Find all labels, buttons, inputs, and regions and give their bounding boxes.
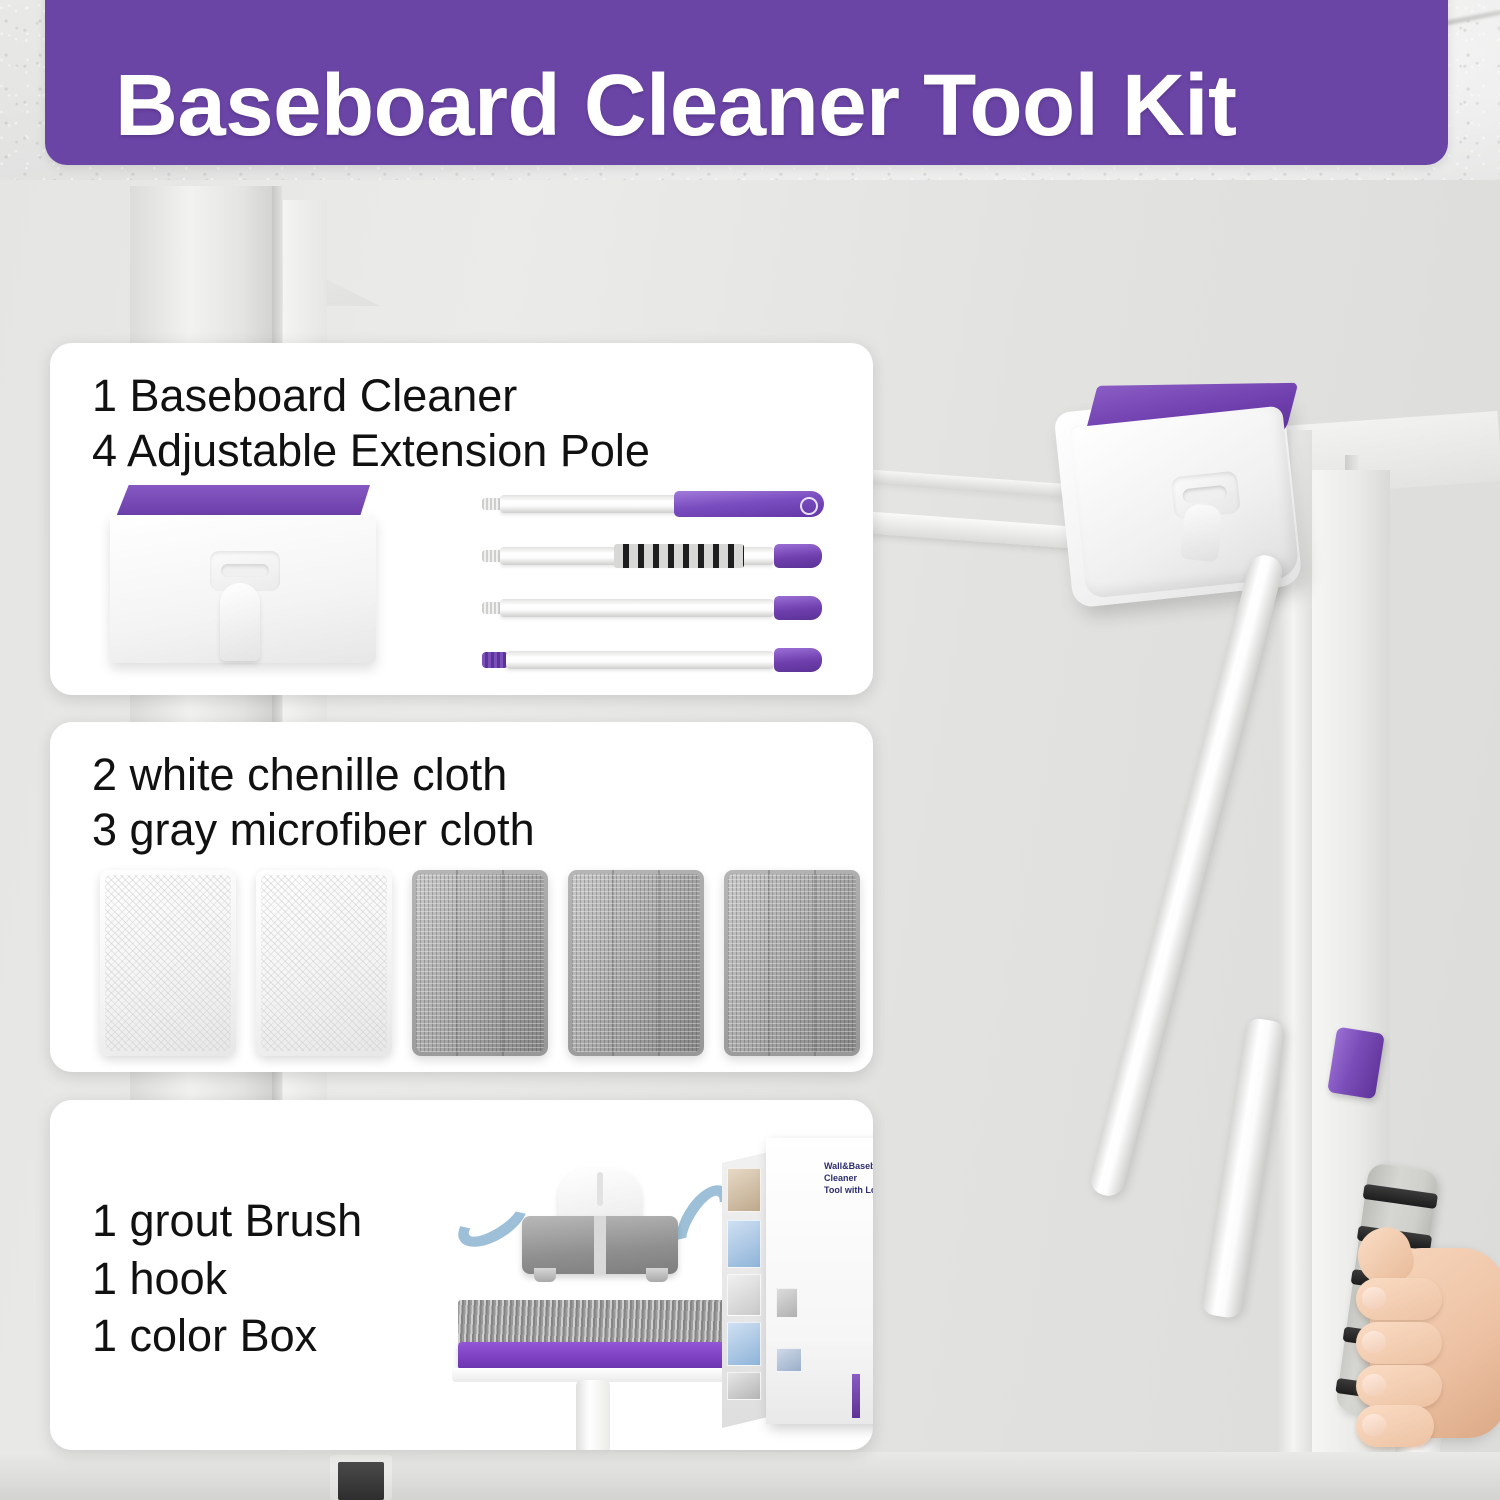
pad-seam <box>814 870 816 1056</box>
pole-segment-4 <box>482 647 822 673</box>
cloth-pads-illustration <box>100 870 860 1056</box>
card-2-line-2: 3 gray microfiber cloth <box>92 803 535 858</box>
card-cloth-pads: 2 white chenille cloth 3 gray microfiber… <box>50 722 873 1072</box>
card-2-line-1: 2 white chenille cloth <box>92 748 535 803</box>
card-brush-hook-box: 1 grout Brush 1 hook 1 color Box Wall&Ba… <box>50 1100 873 1450</box>
cleaner-head-illustration <box>110 485 376 665</box>
brush-stem <box>576 1380 610 1450</box>
color-box-side-panel <box>722 1152 768 1428</box>
pole-ribbed-grip <box>614 544 744 568</box>
grip-band <box>1363 1184 1438 1209</box>
hook-foot <box>646 1268 668 1282</box>
fingernail <box>1362 1331 1386 1353</box>
box-photo-thumb <box>776 1288 798 1318</box>
color-box-front-panel: Wall&Baseboard Cleaner Tool with Long Ha… <box>766 1138 873 1424</box>
fingernail <box>1362 1287 1386 1309</box>
page-title: Baseboard Cleaner Tool Kit <box>115 62 1236 149</box>
hook-foot <box>534 1268 556 1282</box>
pole-tube <box>500 599 774 617</box>
hook-body <box>522 1216 678 1274</box>
pole-purple-handle <box>674 491 824 517</box>
card-3-line-1: 1 grout Brush <box>92 1192 362 1250</box>
extension-poles-illustration <box>482 491 832 671</box>
box-photo-thumb <box>727 1322 761 1366</box>
box-photo-thumb <box>727 1220 761 1268</box>
color-box-title-line-1: Wall&Baseboard Cleaner <box>824 1160 873 1184</box>
pole-purple-cap <box>774 544 822 568</box>
pad-seam <box>658 870 660 1056</box>
cloth-pad-white <box>256 870 392 1056</box>
baseboard <box>0 1452 1500 1500</box>
pole-purple-thread-tip <box>482 652 508 668</box>
hero-pole-purple-collar <box>1327 1027 1385 1100</box>
card-1-text: 1 Baseboard Cleaner 4 Adjustable Extensi… <box>92 369 650 479</box>
brush-bristles <box>458 1300 728 1344</box>
cloth-pad-gray <box>568 870 704 1056</box>
cloth-pad-gray <box>412 870 548 1056</box>
pad-seam <box>456 870 458 1056</box>
pole-tube <box>506 651 774 669</box>
box-photo-thumb <box>727 1168 761 1212</box>
color-box-title-line-2: Tool with Long Handle <box>824 1184 873 1196</box>
pole-purple-cap <box>774 596 822 620</box>
cloth-pad-gray <box>724 870 860 1056</box>
box-photo-thumb <box>727 1274 761 1316</box>
finger <box>1356 1365 1442 1407</box>
cloth-pad-white <box>100 870 236 1056</box>
wall-outlet-face <box>338 1462 384 1500</box>
wall-hook-illustration <box>450 1168 750 1298</box>
pad-seam <box>612 870 614 1056</box>
card-baseboard-cleaner-and-poles: 1 Baseboard Cleaner 4 Adjustable Extensi… <box>50 343 873 695</box>
pole-segment-2 <box>482 543 822 569</box>
card-1-line-2: 4 Adjustable Extension Pole <box>92 424 650 479</box>
card-3-text: 1 grout Brush 1 hook 1 color Box <box>92 1192 362 1365</box>
box-art-accent <box>852 1374 860 1418</box>
box-photo-thumb <box>776 1348 802 1372</box>
color-box-title: Wall&Baseboard Cleaner Tool with Long Ha… <box>824 1160 873 1196</box>
pad-seam <box>768 870 770 1056</box>
fingernail <box>1362 1374 1386 1396</box>
box-photo-thumb <box>727 1372 761 1400</box>
cleaner-head-knob <box>220 583 260 661</box>
fingernail <box>1362 1414 1386 1436</box>
card-3-line-2: 1 hook <box>92 1250 362 1308</box>
hand-gripping-pole <box>1356 1222 1500 1452</box>
hero-cleaner-swivel-joint <box>1180 503 1224 563</box>
finger <box>1356 1278 1442 1320</box>
card-2-text: 2 white chenille cloth 3 gray microfiber… <box>92 748 535 858</box>
card-1-line-1: 1 Baseboard Cleaner <box>92 369 650 424</box>
card-3-line-3: 1 color Box <box>92 1307 362 1365</box>
pole-segment-3 <box>482 595 822 621</box>
pad-seam <box>502 870 504 1056</box>
pole-tube <box>500 495 682 513</box>
title-banner: Baseboard Cleaner Tool Kit <box>45 0 1448 165</box>
pole-purple-cap <box>774 648 822 672</box>
finger <box>1356 1405 1434 1447</box>
cleaner-head-purple-edge <box>116 485 370 517</box>
pole-segment-1 <box>482 491 822 517</box>
right-door-trim-outer <box>1278 430 1312 1500</box>
color-box-illustration: Wall&Baseboard Cleaner Tool with Long Ha… <box>722 1128 873 1428</box>
brush-purple-body <box>458 1342 728 1370</box>
finger <box>1356 1322 1442 1364</box>
grout-brush-illustration <box>458 1300 738 1430</box>
